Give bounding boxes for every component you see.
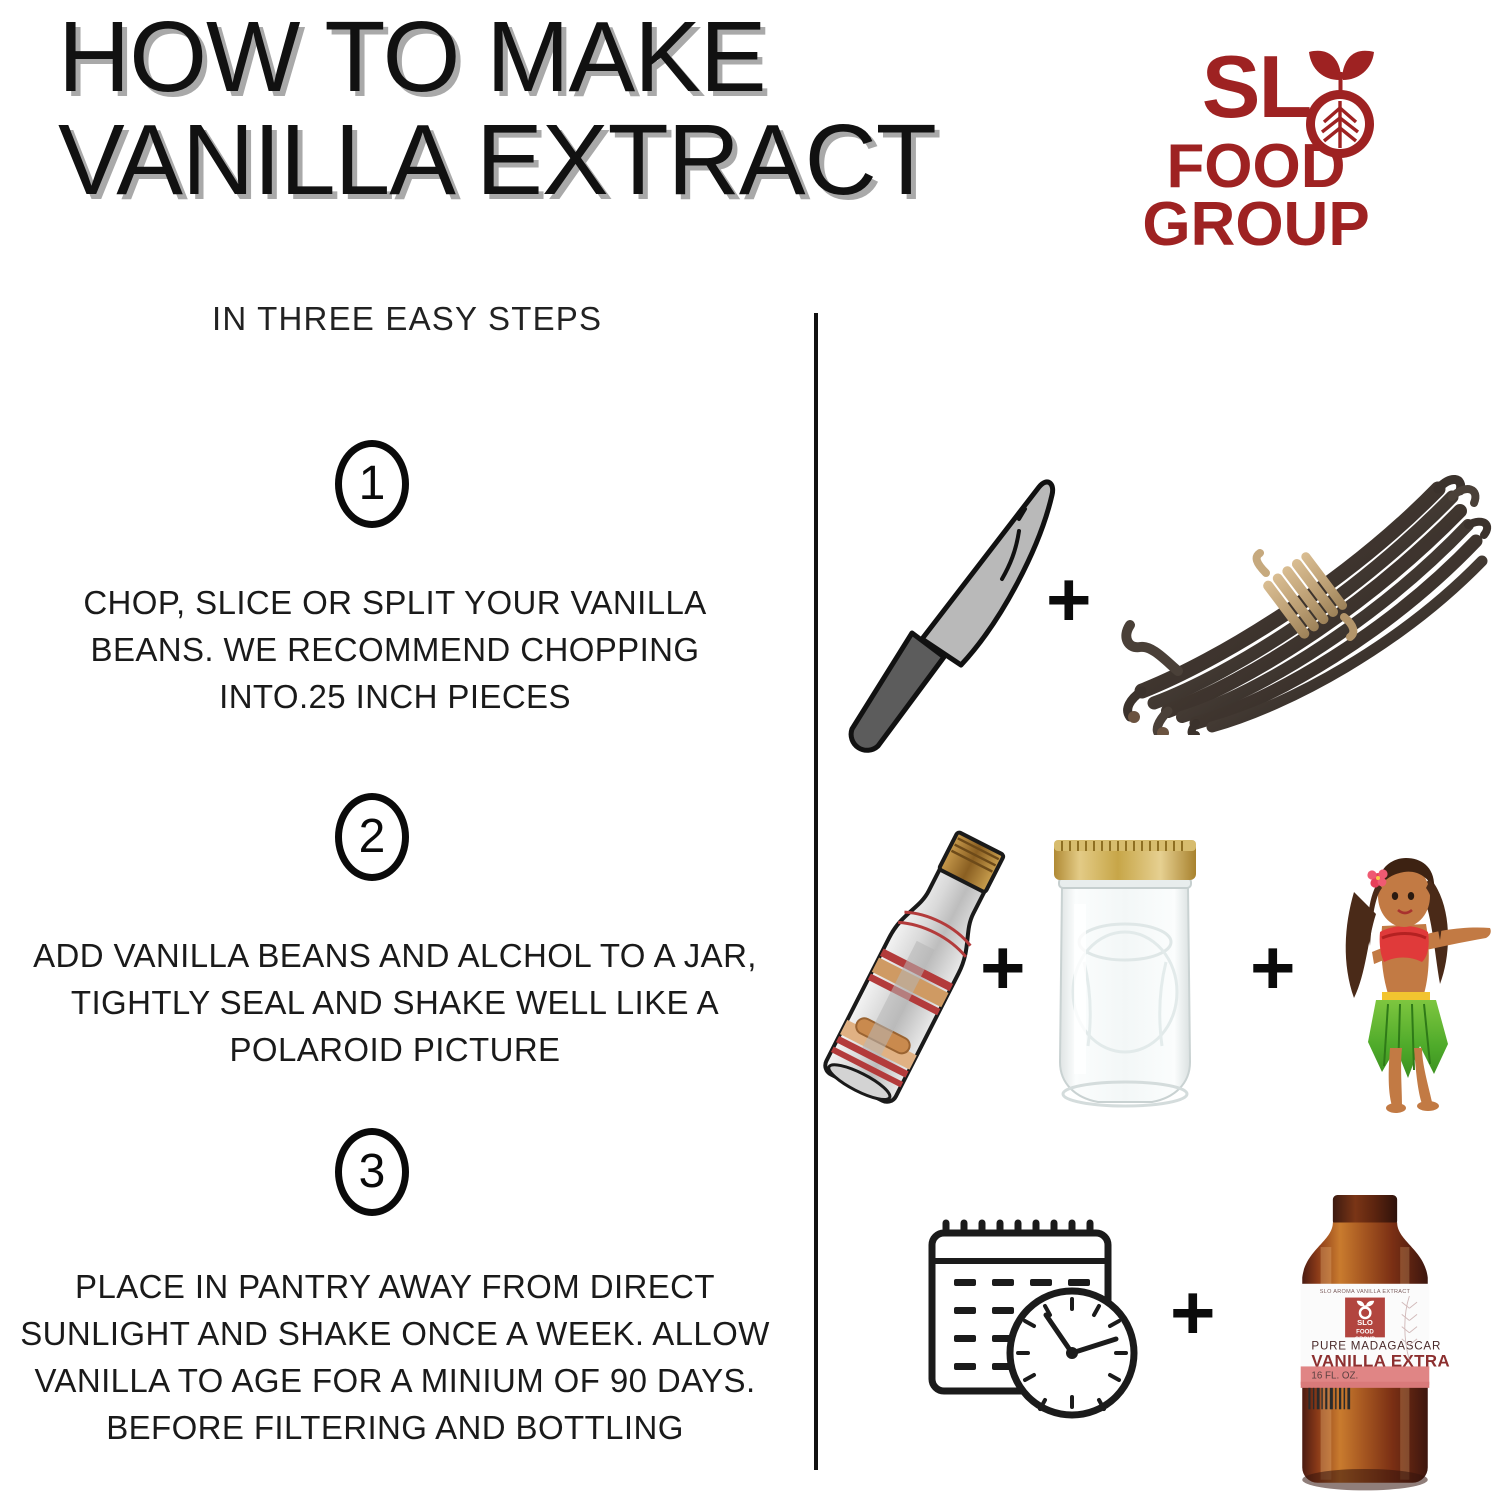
plus-operator-2b: + (1250, 928, 1296, 1006)
brand-logo: SL (1106, 46, 1406, 296)
calendar-clock-icon (920, 1217, 1140, 1432)
label-brand-food: FOOD (1356, 1329, 1374, 1336)
plus-operator-3a: + (1170, 1273, 1216, 1351)
step-3-text: PLACE IN PANTRY AWAY FROM DIRECT SUNLIGH… (0, 1264, 790, 1451)
logo-line-slo: SL (1106, 46, 1406, 138)
label-top-line: SLO AROMA VANILLA EXTRACT (1320, 1289, 1411, 1295)
plus-operator-2a: + (980, 928, 1026, 1006)
step-3: 3 PLACE IN PANTRY AWAY FROM DIRECT SUNLI… (0, 1128, 790, 1451)
vanilla-extract-bottle-icon: SLO AROMA VANILLA EXTRACT SLO FOOD GROUP… (1280, 1195, 1450, 1500)
page-title: HOW TO MAKE VANILLA EXTRACT (58, 6, 988, 212)
vanilla-bean-bundle-icon (1108, 465, 1500, 740)
step-2-text: ADD VANILLA BEANS AND ALCHOL TO A JAR, T… (0, 933, 790, 1074)
step-1-text: CHOP, SLICE OR SPLIT YOUR VANILLA BEANS.… (0, 580, 790, 721)
apple-leaf-icon (1284, 44, 1396, 174)
title-line-1: HOW TO MAKE (58, 6, 988, 109)
mason-jar-icon (1040, 832, 1210, 1119)
hula-dancer-icon (1310, 834, 1500, 1119)
logo-line-group: GROUP (1106, 196, 1406, 254)
step-2-number: 2 (335, 793, 409, 881)
label-brand-slo: SLO (1357, 1318, 1373, 1327)
step-1-illustration-row: + (818, 455, 1500, 775)
page-subtitle: IN THREE EASY STEPS (212, 300, 602, 338)
infographic-page: HOW TO MAKE VANILLA EXTRACT IN THREE EAS… (0, 0, 1500, 1500)
step-1-number: 1 (335, 440, 409, 528)
logo-wordmark: SL (1106, 46, 1406, 255)
step-2: 2 ADD VANILLA BEANS AND ALCHOL TO A JAR,… (0, 793, 790, 1074)
step-3-illustration-row: + (818, 1195, 1500, 1495)
step-3-number: 3 (335, 1128, 409, 1216)
step-2-illustration-row: + (818, 810, 1500, 1130)
plus-operator-1a: + (1046, 560, 1092, 638)
label-product: VANILLA EXTRACT (1311, 1351, 1450, 1370)
step-1: 1 CHOP, SLICE OR SPLIT YOUR VANILLA BEAN… (0, 440, 790, 721)
title-line-2: VANILLA EXTRACT (58, 109, 988, 212)
label-size: 16 FL. OZ. (1311, 1371, 1358, 1382)
